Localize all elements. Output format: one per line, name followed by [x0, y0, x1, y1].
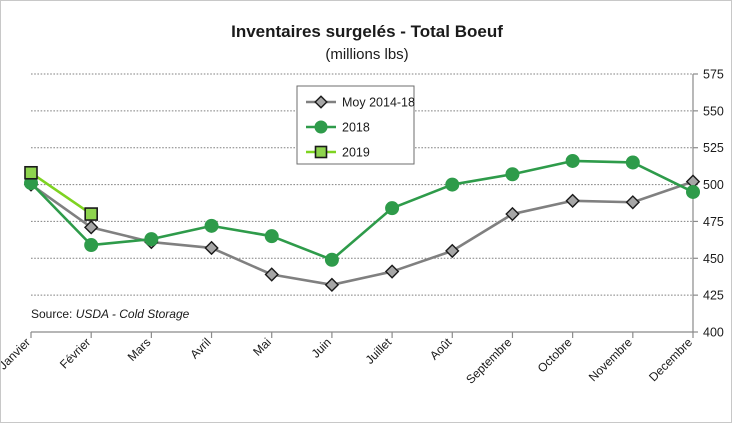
y-tick-label: 425 — [703, 289, 724, 303]
data-point-marker — [316, 147, 327, 158]
data-point-marker — [626, 156, 639, 169]
y-tick-label: 400 — [703, 326, 724, 340]
data-series — [25, 154, 700, 291]
x-tick-label: Juillet — [363, 335, 395, 367]
x-axis-tick-marks — [31, 332, 693, 338]
data-point-marker — [386, 265, 398, 277]
x-axis-tick-labels: JanvierFévrierMarsAvrilMaiJuinJuilletAoû… — [1, 335, 695, 387]
chart-subtitle: (millions lbs) — [325, 46, 408, 63]
line-chart: Inventaires surgelés - Total Boeuf (mill… — [1, 1, 732, 424]
source-annotation: Source: USDA - Cold Storage — [31, 307, 190, 321]
data-point-marker — [266, 268, 278, 280]
y-tick-label: 525 — [703, 141, 724, 155]
legend-label: 2018 — [342, 121, 370, 135]
data-point-marker — [315, 121, 327, 133]
y-axis-tick-labels: 575550525500475450425400 — [703, 68, 724, 340]
data-point-marker — [25, 167, 37, 179]
data-point-marker — [687, 185, 700, 198]
chart-container: Inventaires surgelés - Total Boeuf (mill… — [0, 0, 732, 423]
x-tick-label: Decembre — [646, 335, 695, 384]
x-tick-label: Novembre — [586, 335, 635, 384]
data-point-marker — [145, 233, 158, 246]
legend-item-1[interactable]: Moy 2014-18 — [306, 96, 415, 110]
legend-label: 2019 — [342, 146, 370, 160]
x-tick-label: Mars — [125, 335, 154, 364]
y-tick-label: 450 — [703, 252, 724, 266]
y-tick-label: 475 — [703, 215, 724, 229]
data-point-marker — [506, 168, 519, 181]
x-tick-label: Juin — [309, 335, 334, 360]
chart-title: Inventaires surgelés - Total Boeuf — [231, 22, 503, 41]
y-tick-label: 575 — [703, 68, 724, 82]
x-tick-label: Septembre — [463, 335, 515, 387]
data-point-marker — [446, 178, 459, 191]
x-tick-label: Janvier — [1, 335, 33, 372]
series-3 — [25, 167, 97, 220]
x-tick-label: Avril — [187, 335, 213, 361]
series-2 — [25, 154, 700, 266]
series-line — [31, 161, 693, 260]
data-point-marker — [85, 208, 97, 220]
data-point-marker — [446, 245, 458, 257]
data-point-marker — [205, 242, 217, 254]
data-point-marker — [205, 219, 218, 232]
legend-label: Moy 2014-18 — [342, 96, 415, 110]
data-point-marker — [506, 208, 518, 220]
x-tick-label: Octobre — [535, 335, 575, 375]
data-point-marker — [85, 239, 98, 252]
chart-legend: Moy 2014-1820182019 — [297, 86, 415, 164]
x-tick-label: Mai — [250, 335, 274, 359]
data-point-marker — [386, 202, 399, 215]
data-point-marker — [566, 154, 579, 167]
y-tick-label: 500 — [703, 178, 724, 192]
data-point-marker — [325, 253, 338, 266]
x-tick-label: Août — [427, 335, 455, 363]
x-tick-label: Février — [57, 335, 93, 371]
data-point-marker — [627, 196, 639, 208]
data-point-marker — [566, 195, 578, 207]
y-tick-label: 550 — [703, 104, 724, 118]
data-point-marker — [326, 279, 338, 291]
data-point-marker — [265, 230, 278, 243]
